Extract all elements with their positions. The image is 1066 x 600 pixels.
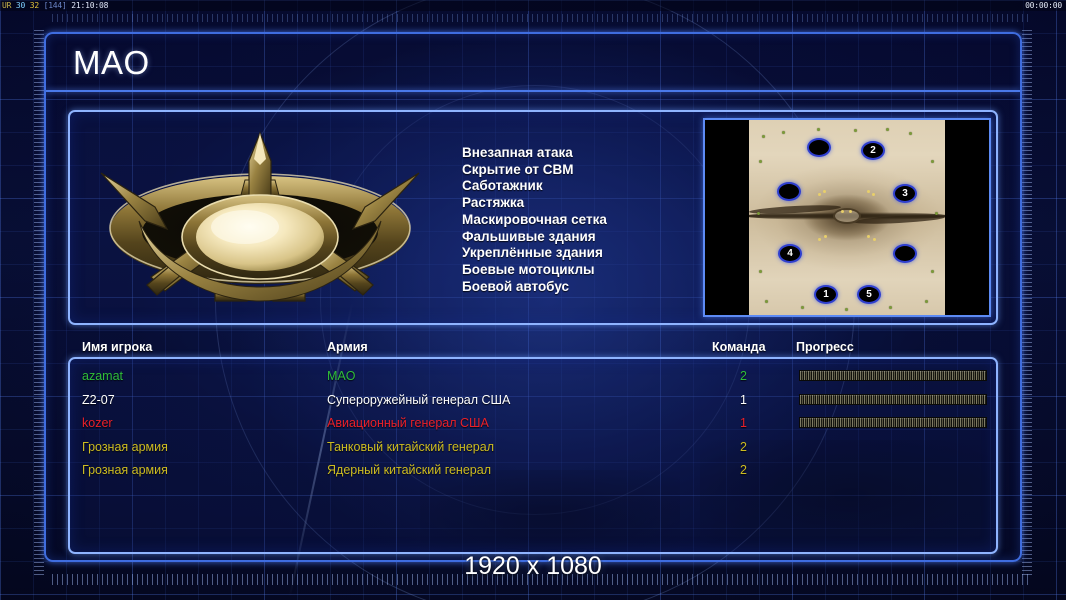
map-resource-marker [873,238,876,241]
hud-timer: 00:00:00 [1025,0,1062,11]
map-start-position-empty[interactable] [779,184,799,199]
cell-player-name: azamat [82,365,123,389]
map-resource-marker [823,190,826,193]
gla-general-emblem-icon [95,125,425,315]
ability-item: Боевой автобус [462,279,692,296]
cell-team: 2 [740,365,747,389]
map-tree-marker [886,128,889,131]
map-resource-marker [872,193,875,196]
column-header-progress: Прогресс [796,340,854,354]
cell-team: 1 [740,389,747,413]
cell-army: Ядерный китайский генерал [327,459,491,483]
ruler-right [1022,30,1032,575]
map-tree-marker [817,128,820,131]
ability-item: Фальшивые здания [462,229,692,246]
map-center-feature [833,208,861,224]
map-preview-image: 23415 [749,120,945,315]
cell-army: MAO [327,365,355,389]
ability-item: Внезапная атака [462,145,692,162]
map-start-position-empty[interactable] [809,140,829,155]
map-start-position-5[interactable]: 5 [859,287,879,302]
hud-seg-2: 32 [30,1,39,10]
column-header-player-name: Имя игрока [82,340,152,354]
title-separator [46,90,1020,92]
progress-bar [799,417,987,428]
hud-seg-0: UR [2,1,11,10]
cell-army: Танковый китайский генерал [327,436,494,460]
hud-seg-4: 21:10:08 [71,1,108,10]
map-tree-marker [782,131,785,134]
hud-seg-3: [144] [44,1,67,10]
cell-player-name: kozer [82,412,113,436]
map-preview[interactable]: 23415 [703,118,991,317]
hud-stats-text: UR 30 32 [144] 21:10:08 [2,0,108,11]
cell-team: 2 [740,436,747,460]
ability-item: Боевые мотоциклы [462,262,692,279]
map-start-position-2[interactable]: 2 [863,143,883,158]
map-resource-marker [867,190,870,193]
map-start-position-empty[interactable] [895,246,915,261]
map-tree-marker [762,135,765,138]
map-tree-marker [909,132,912,135]
map-tree-marker [759,270,762,273]
map-tree-marker [889,306,892,309]
map-resource-marker [849,210,852,213]
table-row[interactable]: azamatMAO2 [68,365,998,389]
map-tree-marker [801,306,804,309]
map-tree-marker [854,129,857,132]
map-resource-marker [867,235,870,238]
map-start-position-1[interactable]: 1 [816,287,836,302]
ability-item: Саботажник [462,178,692,195]
ability-item: Скрытие от СВМ [462,162,692,179]
hud-overlay-strip: UR 30 32 [144] 21:10:08 00:00:00 [0,0,1066,11]
hud-seg-1: 30 [16,1,25,10]
progress-bar [799,394,987,405]
map-tree-marker [925,300,928,303]
progress-bar [799,370,987,381]
resolution-label: 1920 x 1080 [0,552,1066,581]
player-table-body: azamatMAO2Z2-07Супероружейный генерал СШ… [68,357,998,554]
game-lobby-screen: UR 30 32 [144] 21:10:08 00:00:00 MAO [0,0,1066,600]
column-header-team: Команда [712,340,766,354]
table-row[interactable]: Грозная армияЯдерный китайский генерал2 [68,459,998,483]
general-abilities-list: Внезапная атака Скрытие от СВМ Саботажни… [462,145,692,295]
cell-army: Авиационный генерал США [327,412,489,436]
map-tree-marker [845,308,848,311]
table-row[interactable]: kozerАвиационный генерал США1 [68,412,998,436]
table-row[interactable]: Z2-07Супероружейный генерал США1 [68,389,998,413]
cell-player-name: Z2-07 [82,389,115,413]
cell-team: 2 [740,459,747,483]
table-row[interactable]: Грозная армияТанковый китайский генерал2 [68,436,998,460]
map-start-position-3[interactable]: 3 [895,186,915,201]
map-tree-marker [759,160,762,163]
map-tree-marker [931,270,934,273]
map-resource-marker [824,235,827,238]
map-tree-marker [765,300,768,303]
map-start-position-4[interactable]: 4 [780,246,800,261]
cell-player-name: Грозная армия [82,459,168,483]
ability-item: Растяжка [462,195,692,212]
map-tree-marker [935,212,938,215]
cell-army: Супероружейный генерал США [327,389,510,413]
ruler-top [52,14,1032,22]
player-table-header: Имя игрока Армия Команда Прогресс [68,340,998,356]
cell-player-name: Грозная армия [82,436,168,460]
ability-item: Маскировочная сетка [462,212,692,229]
ability-item: Укреплённые здания [462,245,692,262]
page-title: MAO [73,44,150,82]
map-resource-marker [841,210,844,213]
map-tree-marker [757,212,760,215]
map-resource-marker [818,238,821,241]
ruler-left [34,30,44,575]
column-header-army: Армия [327,340,368,354]
cell-team: 1 [740,412,747,436]
map-resource-marker [818,193,821,196]
map-tree-marker [931,160,934,163]
